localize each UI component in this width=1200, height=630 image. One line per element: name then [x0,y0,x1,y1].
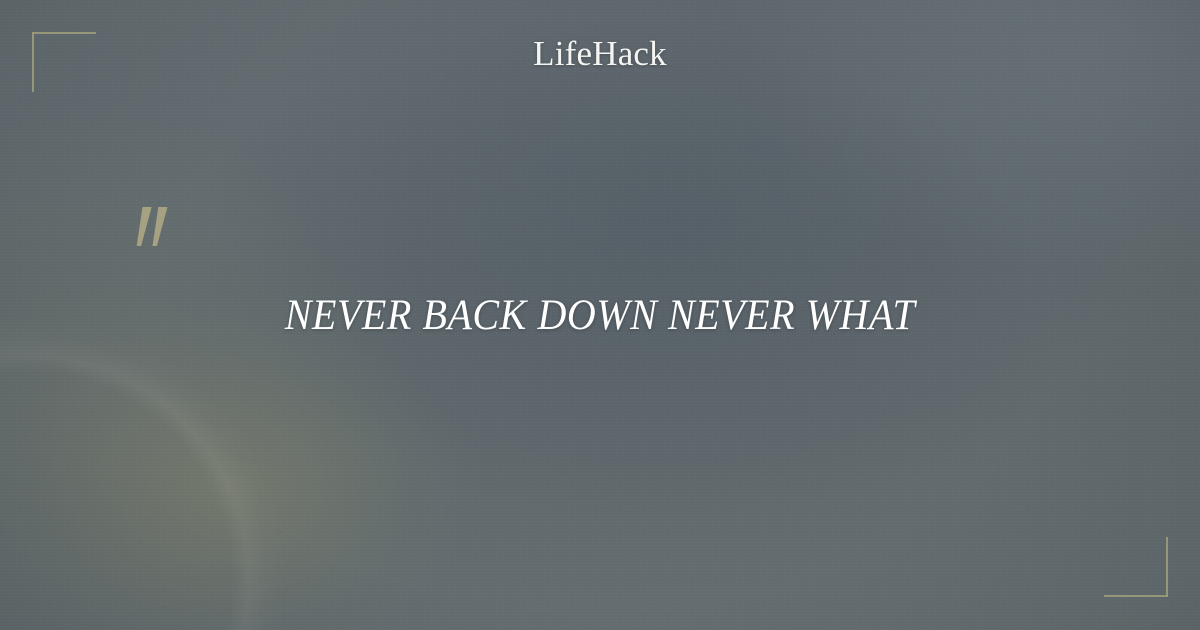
double-quote-icon [126,205,186,275]
corner-bracket-bottom-right-horizontal [1104,595,1168,597]
brand-wordmark: LifeHack [0,36,1200,71]
corner-bracket-top-left-horizontal [32,32,96,34]
quote-card: LifeHack NEVER BACK DOWN NEVER WHAT [0,0,1200,630]
quote-text: NEVER BACK DOWN NEVER WHAT [285,292,916,340]
quote-block: NEVER BACK DOWN NEVER WHAT [0,292,1200,340]
corner-bracket-bottom-right [1104,537,1168,597]
corner-bracket-bottom-right-vertical [1166,537,1168,597]
